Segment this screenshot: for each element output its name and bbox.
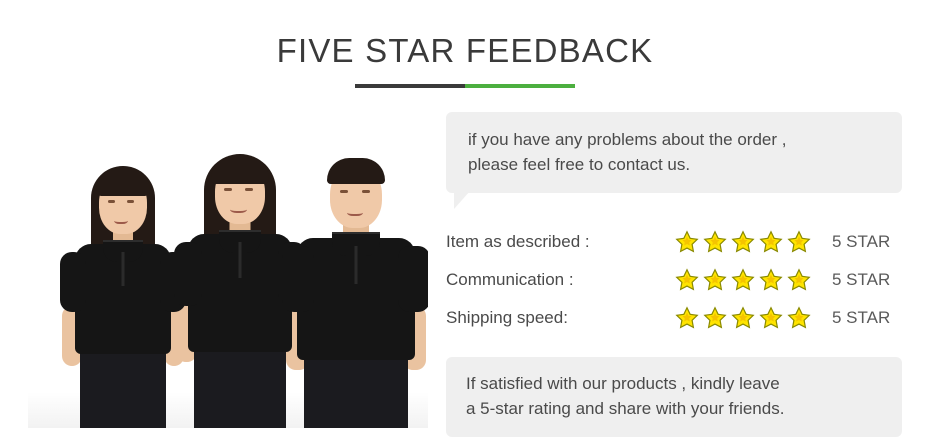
star-icon [674,229,700,255]
star-icon [702,229,728,255]
eye-right [127,200,134,203]
pants [304,352,408,428]
mouth [230,204,247,213]
hair-top [327,158,385,184]
shirt-placket [355,246,358,284]
underline-dark-segment [355,84,465,88]
sleeve-left [60,252,86,312]
star-icon [674,305,700,331]
eye-left [108,200,115,203]
hair-top [211,156,269,184]
shirt-placket [239,242,242,278]
rating-label: Item as described : [446,232,674,252]
mouth [347,208,363,216]
shirt-placket [122,252,125,286]
star-icon [758,229,784,255]
star-icon [674,267,700,293]
rating-value: 5 STAR [832,270,890,290]
star-rating [674,229,814,255]
underline-green-segment [465,84,575,88]
star-icon [786,229,812,255]
eye-right [362,190,370,193]
person-man-right [272,128,428,428]
sleeve-right [398,246,428,312]
sleeve-left [282,246,314,312]
rating-label: Communication : [446,270,674,290]
models-photo [28,118,428,428]
rating-row: Communication : 5 STAR [446,261,902,299]
rating-row: Shipping speed: 5 STAR [446,299,902,337]
star-icon [702,305,728,331]
satisfaction-message-bubble: If satisfied with our products , kindly … [446,357,902,437]
contact-message-bubble: if you have any problems about the order… [446,112,902,193]
contact-message-line1: if you have any problems about the order… [468,127,884,152]
star-icon [786,267,812,293]
star-icon [730,267,756,293]
title-underline [355,84,575,88]
star-icon [758,267,784,293]
star-icon [730,229,756,255]
mouth [114,216,128,224]
rating-row: Item as described : 5 STAR [446,223,902,261]
sleeve-left [174,242,202,306]
contact-message-line2: please feel free to contact us. [468,152,884,177]
rating-label: Shipping speed: [446,308,674,328]
satisfaction-message-line2: a 5-star rating and share with your frie… [466,396,886,421]
eye-left [340,190,348,193]
pants [80,346,166,428]
star-icon [702,267,728,293]
eye-right [245,188,253,191]
rating-value: 5 STAR [832,308,890,328]
star-icon [758,305,784,331]
satisfaction-message-line1: If satisfied with our products , kindly … [466,371,886,396]
eye-left [224,188,232,191]
star-rating [674,305,814,331]
star-rating [674,267,814,293]
ratings-list: Item as described : 5 STAR Communication… [446,223,902,337]
page-title: FIVE STAR FEEDBACK [0,32,930,70]
star-icon [786,305,812,331]
feedback-content: if you have any problems about the order… [446,112,902,437]
feedback-banner: FIVE STAR FEEDBACK [0,0,930,442]
star-icon [730,305,756,331]
rating-value: 5 STAR [832,232,890,252]
pants [194,344,286,428]
